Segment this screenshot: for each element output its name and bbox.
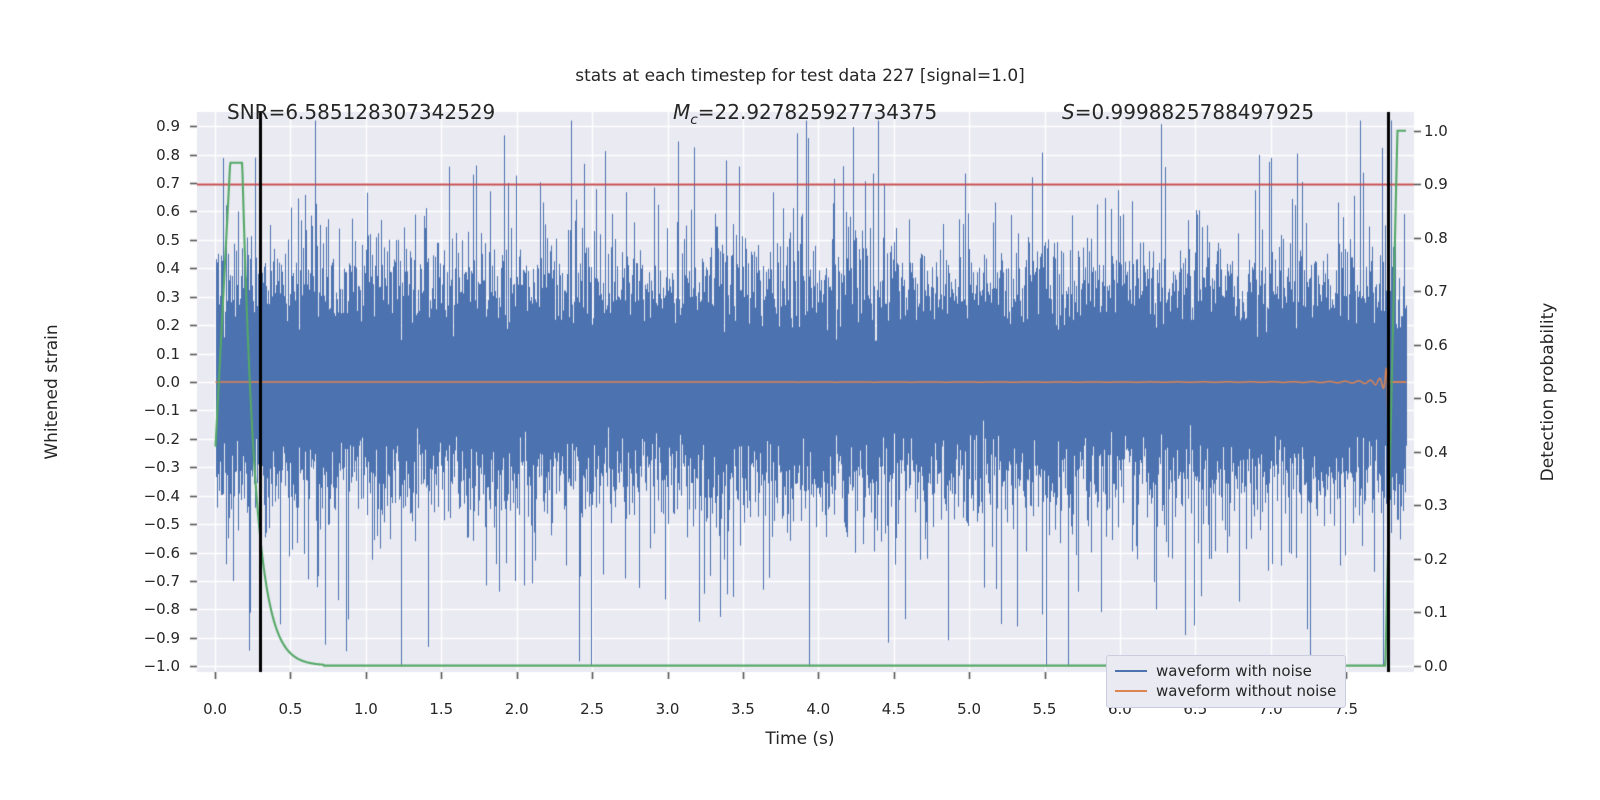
legend-color-swatch: [1115, 690, 1147, 692]
y-tick-left: 0.7: [120, 174, 180, 192]
y-tick-left: 0.6: [120, 202, 180, 220]
y-tick-right: 0.6: [1424, 336, 1484, 354]
y-tick-left: 0.2: [120, 316, 180, 334]
x-axis-label: Time (s): [0, 729, 1600, 749]
annotation-snr: SNR=6.585128307342529: [227, 100, 495, 124]
y-tick-left: −0.2: [120, 430, 180, 448]
y-tick-right: 0.3: [1424, 496, 1484, 514]
y-tick-right: 0.4: [1424, 443, 1484, 461]
y-tick-left: 0.9: [120, 117, 180, 135]
x-tick: 2.0: [487, 700, 547, 718]
y-tick-right: 0.0: [1424, 657, 1484, 675]
x-tick: 0.0: [185, 700, 245, 718]
y-tick-left: −0.3: [120, 458, 180, 476]
y-tick-right: 0.1: [1424, 603, 1484, 621]
annotation-s-label: S: [1062, 100, 1075, 124]
x-tick: 3.5: [713, 700, 773, 718]
legend-label: waveform with noise: [1156, 662, 1312, 680]
x-tick: 2.5: [562, 700, 622, 718]
legend-color-swatch: [1115, 670, 1147, 672]
legend: waveform with noisewaveform without nois…: [1106, 655, 1346, 708]
y-tick-left: 0.3: [120, 288, 180, 306]
annotation-chirp-mass: Mc=22.927825927734375: [673, 100, 937, 128]
figure: stats at each timestep for test data 227…: [0, 0, 1600, 800]
y-tick-left: −0.5: [120, 515, 180, 533]
y-axis-label-right: Detection probability: [1538, 262, 1558, 522]
y-tick-right: 0.2: [1424, 550, 1484, 568]
y-tick-left: −0.6: [120, 544, 180, 562]
x-tick: 0.5: [260, 700, 320, 718]
y-tick-left: −0.4: [120, 487, 180, 505]
y-tick-right: 0.8: [1424, 229, 1484, 247]
annotation-mc-label: M: [673, 100, 690, 124]
annotation-mc-value: 22.927825927734375: [715, 100, 938, 124]
y-tick-left: 0.0: [120, 373, 180, 391]
y-tick-left: 0.5: [120, 231, 180, 249]
y-tick-left: 0.8: [120, 146, 180, 164]
y-tick-right: 0.5: [1424, 389, 1484, 407]
legend-label: waveform without noise: [1156, 682, 1336, 700]
y-axis-label-left: Whitened strain: [42, 262, 62, 522]
y-tick-left: −0.1: [120, 401, 180, 419]
legend-item: waveform with noise: [1115, 661, 1337, 681]
y-tick-right: 0.7: [1424, 282, 1484, 300]
y-tick-left: −1.0: [120, 657, 180, 675]
annotation-s-value: 0.9998825788497925: [1091, 100, 1314, 124]
x-tick: 4.0: [788, 700, 848, 718]
y-tick-right: 1.0: [1424, 122, 1484, 140]
x-tick: 5.0: [939, 700, 999, 718]
x-tick: 5.5: [1015, 700, 1075, 718]
y-tick-left: 0.1: [120, 345, 180, 363]
y-tick-left: −0.8: [120, 600, 180, 618]
y-tick-right: 0.9: [1424, 175, 1484, 193]
chart-title: stats at each timestep for test data 227…: [0, 66, 1600, 86]
x-tick: 4.5: [864, 700, 924, 718]
x-tick: 1.0: [336, 700, 396, 718]
y-tick-left: −0.9: [120, 629, 180, 647]
x-tick: 3.0: [638, 700, 698, 718]
annotation-significance: S=0.9998825788497925: [1062, 100, 1314, 124]
y-tick-left: 0.4: [120, 259, 180, 277]
x-tick: 1.5: [411, 700, 471, 718]
annotation-snr-value: 6.585128307342529: [285, 100, 495, 124]
legend-item: waveform without noise: [1115, 681, 1337, 701]
y-tick-left: −0.7: [120, 572, 180, 590]
annotation-snr-label: SNR: [227, 100, 269, 124]
annotation-mc-sub: c: [690, 112, 697, 128]
